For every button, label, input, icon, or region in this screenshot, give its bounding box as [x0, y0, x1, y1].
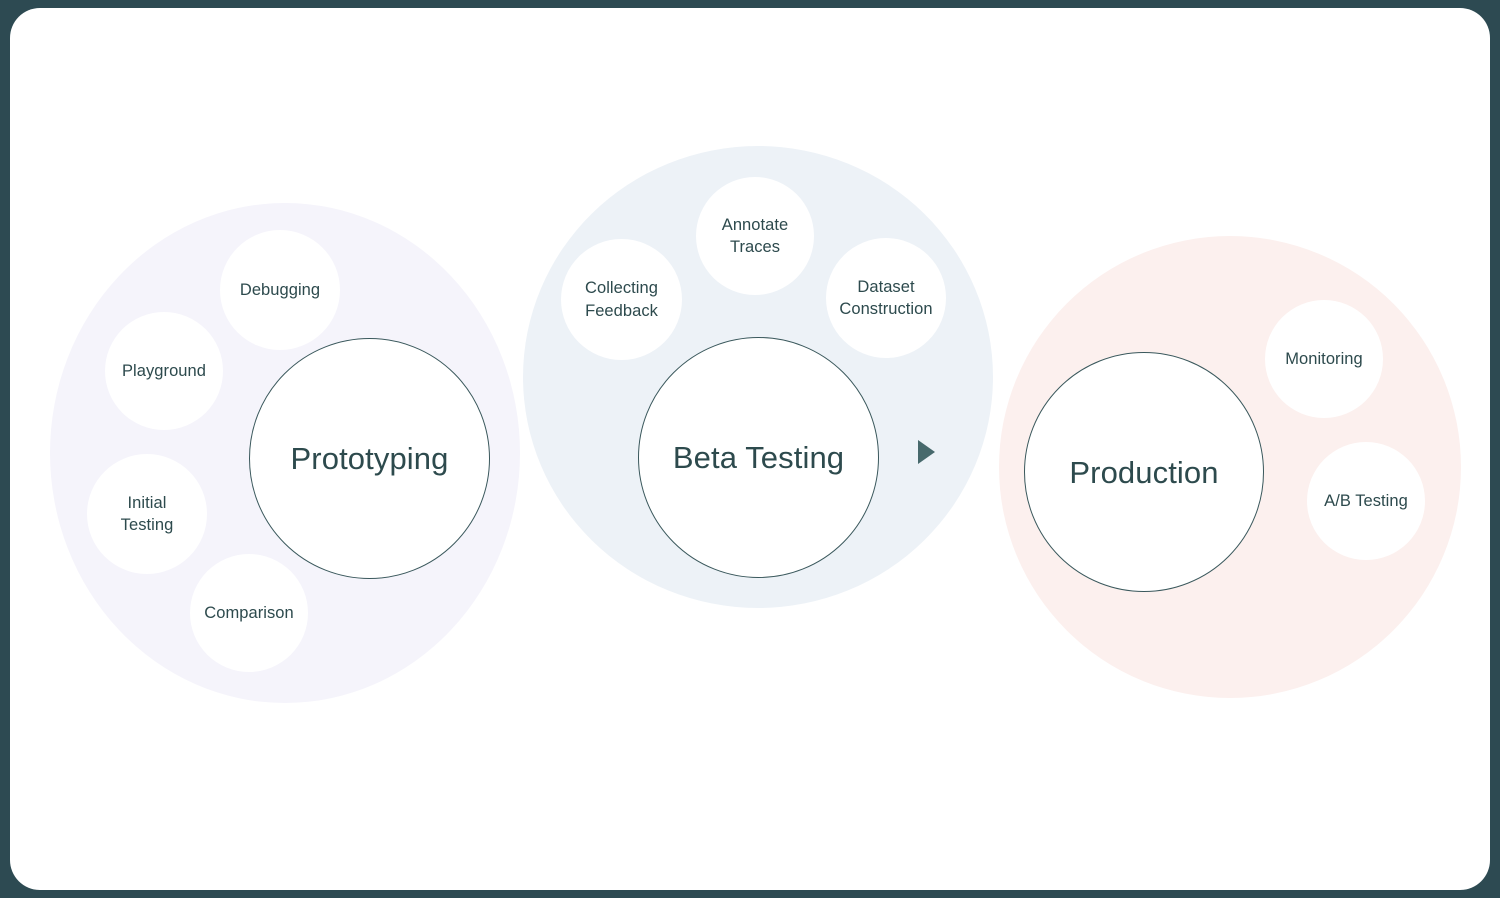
satellite-debugging-label: Debugging: [240, 279, 320, 301]
core-beta-testing[interactable]: Beta Testing: [638, 337, 879, 578]
satellite-ab-testing[interactable]: A/B Testing: [1307, 442, 1425, 560]
satellite-comparison-label: Comparison: [204, 602, 293, 624]
satellite-initial-testing-label: Initial Testing: [121, 492, 174, 537]
satellite-comparison[interactable]: Comparison: [190, 554, 308, 672]
satellite-dataset-construction[interactable]: Dataset Construction: [826, 238, 946, 358]
core-production[interactable]: Production: [1024, 352, 1264, 592]
satellite-collecting-feedback-label: Collecting Feedback: [585, 277, 658, 322]
satellite-ab-testing-label: A/B Testing: [1324, 490, 1408, 512]
satellite-playground[interactable]: Playground: [105, 312, 223, 430]
core-production-label: Production: [1069, 457, 1218, 488]
satellite-collecting-feedback[interactable]: Collecting Feedback: [561, 239, 682, 360]
arrow-beta-to-production: [918, 440, 935, 464]
core-prototyping-label: Prototyping: [291, 443, 449, 474]
diagram-canvas: Debugging Playground Initial Testing Com…: [10, 8, 1490, 890]
core-beta-testing-label: Beta Testing: [673, 442, 844, 473]
satellite-annotate-traces[interactable]: Annotate Traces: [696, 177, 814, 295]
satellite-monitoring-label: Monitoring: [1285, 348, 1363, 370]
satellite-playground-label: Playground: [122, 360, 206, 382]
satellite-annotate-traces-label: Annotate Traces: [722, 214, 788, 259]
core-prototyping[interactable]: Prototyping: [249, 338, 490, 579]
satellite-monitoring[interactable]: Monitoring: [1265, 300, 1383, 418]
satellite-initial-testing[interactable]: Initial Testing: [87, 454, 207, 574]
satellite-dataset-construction-label: Dataset Construction: [839, 276, 932, 321]
satellite-debugging[interactable]: Debugging: [220, 230, 340, 350]
